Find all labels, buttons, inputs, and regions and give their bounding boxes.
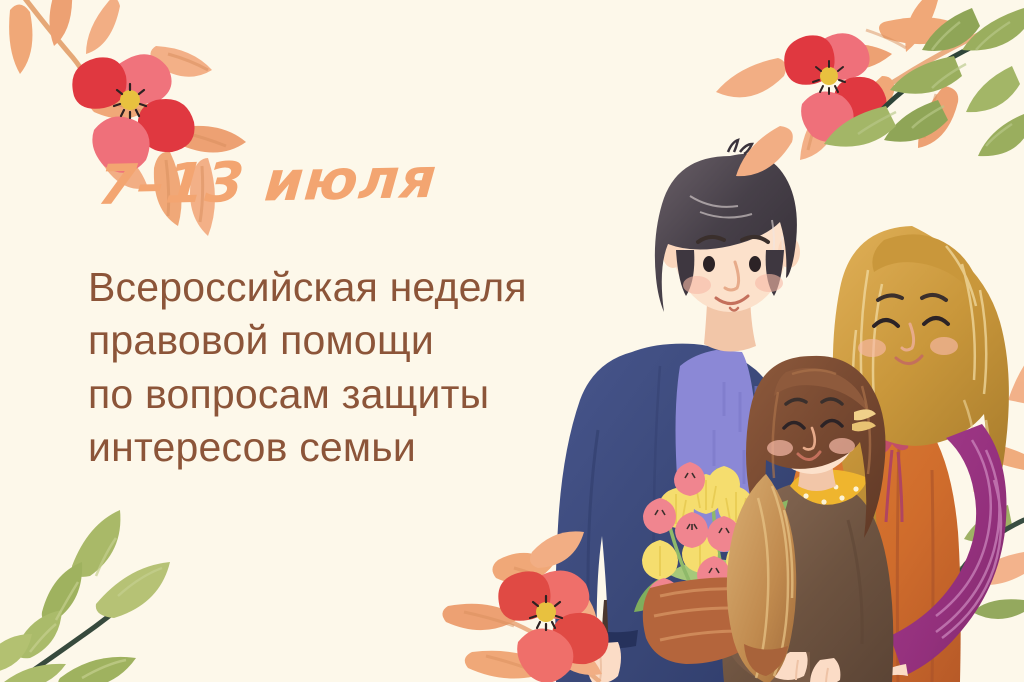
peach-branch-top-right xyxy=(716,0,1024,176)
red-flower-top-right xyxy=(784,33,886,142)
headline-line-2: правовой помощи xyxy=(88,314,608,367)
hair-clip-icon xyxy=(852,409,876,431)
text-block: 7–13 июля Всероссийская неделя правовой … xyxy=(88,158,608,474)
figure-daughter xyxy=(722,356,893,682)
poster-canvas: 7–13 июля Всероссийская неделя правовой … xyxy=(0,0,1024,682)
figure-mother xyxy=(783,226,1009,682)
headline-line-4: интересов семьи xyxy=(88,421,608,474)
headline-line-3: по вопросам защиты xyxy=(88,368,608,421)
page-title: Всероссийская неделя правовой помощи по … xyxy=(88,261,608,474)
date-label: 7–13 июля xyxy=(96,147,612,213)
headline-line-1: Всероссийская неделя xyxy=(88,261,608,314)
red-flower-bottom-center xyxy=(498,571,608,682)
olive-branch-top-right xyxy=(824,8,1024,156)
tulip-bouquet xyxy=(634,462,796,682)
olive-branch-right-edge xyxy=(942,342,1024,619)
